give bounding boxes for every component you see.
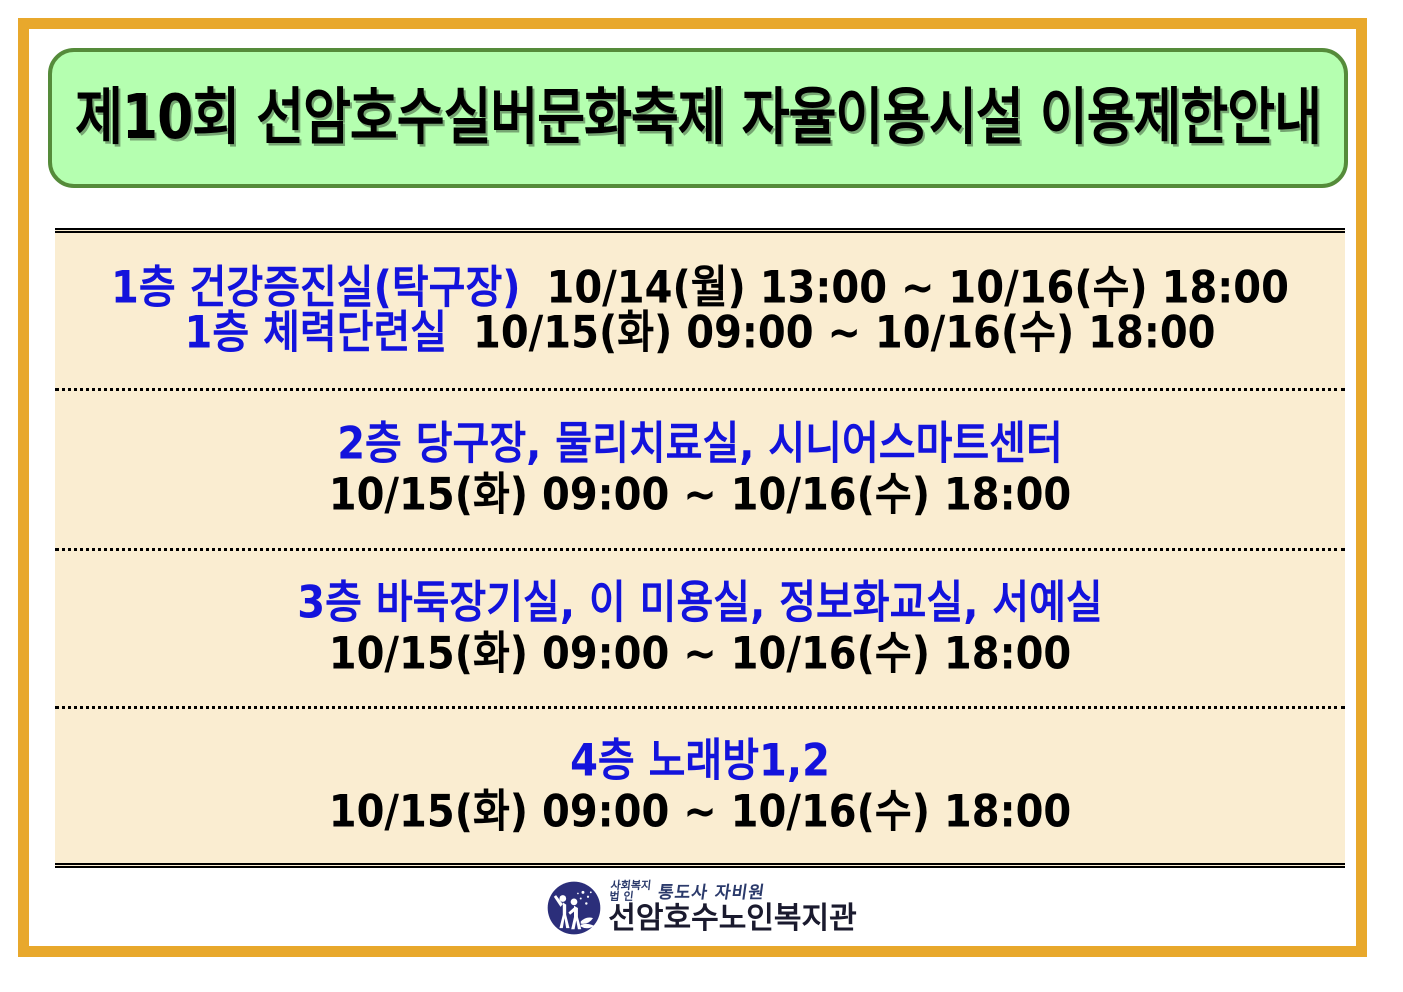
facility-name: 1층 건강증진실(탁구장) [111, 262, 521, 314]
facility-period: 10/14(월) 13:00 ~ 10/16(수) 18:00 [547, 262, 1289, 314]
welfare-center-emblem-icon [546, 880, 602, 936]
title-banner: 제10회 선암호수실버문화축제 자율이용시설 이용제한안내 [48, 48, 1348, 188]
logo-subtitle-right: 통도사 자비원 [657, 885, 766, 902]
facility-period: 10/15(화) 09:00 ~ 10/16(수) 18:00 [473, 307, 1215, 359]
logo-subtitle-row: 사회복지 법 인 통도사 자비원 [610, 882, 856, 902]
logo-subtitle-left: 사회복지 법 인 [609, 880, 652, 902]
notice-section-floor-1: 1층 건강증진실(탁구장) 10/14(월) 13:00 ~ 10/16(수) … [55, 233, 1345, 388]
facility-name: 1층 체력단련실 [185, 307, 448, 359]
facility-period: 10/15(화) 09:00 ~ 10/16(수) 18:00 [329, 629, 1071, 679]
facility-name: 2층 당구장, 물리치료실, 시니어스마트센터 [337, 419, 1063, 469]
notice-line: 1층 체력단련실 10/15(화) 09:00 ~ 10/16(수) 18:00 [185, 308, 1216, 358]
logo-text-block: 사회복지 법 인 통도사 자비원 선암호수노인복지관 [608, 882, 856, 935]
notice-line: 1층 건강증진실(탁구장) 10/14(월) 13:00 ~ 10/16(수) … [111, 263, 1289, 313]
facility-name: 4층 노래방1,2 [570, 737, 830, 787]
facility-name: 3층 바둑장기실, 이 미용실, 정보화교실, 서예실 [297, 578, 1102, 628]
facility-period: 10/15(화) 09:00 ~ 10/16(수) 18:00 [329, 787, 1071, 837]
poster-canvas: 제10회 선암호수실버문화축제 자율이용시설 이용제한안내 1층 건강증진실(탁… [0, 0, 1403, 992]
notice-content-panel: 1층 건강증진실(탁구장) 10/14(월) 13:00 ~ 10/16(수) … [55, 228, 1345, 868]
facility-period: 10/15(화) 09:00 ~ 10/16(수) 18:00 [329, 470, 1071, 520]
notice-section-floor-2: 2층 당구장, 물리치료실, 시니어스마트센터 10/15(화) 09:00 ~… [55, 388, 1345, 548]
organization-name: 선암호수노인복지관 [608, 903, 856, 935]
organization-logo: 사회복지 법 인 통도사 자비원 선암호수노인복지관 [546, 880, 856, 936]
logo-subtitle-line2: 법 인 [609, 891, 651, 902]
footer-logo-area: 사회복지 법 인 통도사 자비원 선암호수노인복지관 [0, 872, 1403, 944]
notice-section-floor-3: 3층 바둑장기실, 이 미용실, 정보화교실, 서예실 10/15(화) 09:… [55, 548, 1345, 706]
notice-section-floor-4: 4층 노래방1,2 10/15(화) 09:00 ~ 10/16(수) 18:0… [55, 706, 1345, 865]
page-title: 제10회 선암호수실버문화축제 자율이용시설 이용제한안내 [75, 87, 1321, 148]
